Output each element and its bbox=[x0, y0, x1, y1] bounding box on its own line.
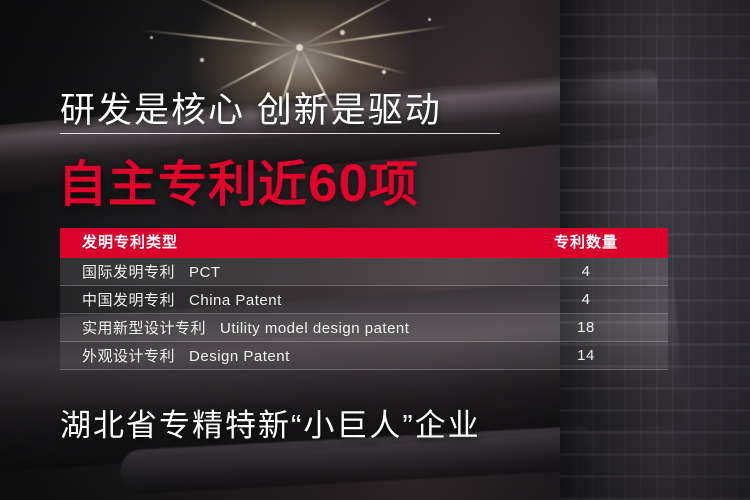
patent-type-cn: 外观设计专利 bbox=[82, 348, 175, 365]
patent-type-en: PCT bbox=[189, 264, 221, 281]
headline: 研发是核心 创新是驱动 bbox=[60, 82, 442, 133]
patent-table-head: 发明专利类型 专利数量 bbox=[60, 228, 668, 258]
subheadline-number: 60 bbox=[308, 154, 369, 213]
column-header-count: 专利数量 bbox=[512, 228, 668, 258]
table-row: 国际发明专利PCT 4 bbox=[60, 258, 668, 286]
patent-type-en: Design Patent bbox=[189, 348, 290, 365]
patent-type-en: Utility model design patent bbox=[220, 320, 409, 337]
cell-patent-count: 14 bbox=[512, 342, 668, 370]
cell-patent-count: 18 bbox=[512, 314, 668, 342]
table-row: 中国发明专利China Patent 4 bbox=[60, 286, 668, 314]
cell-patent-type: 外观设计专利Design Patent bbox=[60, 342, 512, 370]
subheadline-suffix: 项 bbox=[369, 158, 419, 212]
table-header-row: 发明专利类型 专利数量 bbox=[60, 228, 668, 258]
cell-patent-count: 4 bbox=[512, 286, 668, 314]
patent-table-body: 国际发明专利PCT 4 中国发明专利China Patent 4 实用新型设计专… bbox=[60, 258, 668, 370]
footer-tagline: 湖北省专精特新“小巨人”企业 bbox=[60, 400, 481, 445]
poster-canvas: 研发是核心 创新是驱动 自主专利近60项 发明专利类型 专利数量 国际发明专利P… bbox=[0, 0, 750, 500]
poster-content: 研发是核心 创新是驱动 自主专利近60项 发明专利类型 专利数量 国际发明专利P… bbox=[0, 0, 750, 500]
column-header-type: 发明专利类型 bbox=[60, 228, 512, 258]
patent-type-cn: 实用新型设计专利 bbox=[82, 320, 206, 337]
subheadline-prefix: 自主专利近 bbox=[58, 158, 308, 212]
headline-divider bbox=[60, 133, 500, 134]
cell-patent-type: 国际发明专利PCT bbox=[60, 258, 512, 286]
table-row: 外观设计专利Design Patent 14 bbox=[60, 342, 668, 370]
cell-patent-count: 4 bbox=[512, 258, 668, 286]
patent-type-en: China Patent bbox=[189, 292, 282, 309]
cell-patent-type: 实用新型设计专利Utility model design patent bbox=[60, 314, 512, 342]
cell-patent-type: 中国发明专利China Patent bbox=[60, 286, 512, 314]
table-row: 实用新型设计专利Utility model design patent 18 bbox=[60, 314, 668, 342]
patent-type-cn: 国际发明专利 bbox=[82, 264, 175, 281]
patent-table: 发明专利类型 专利数量 国际发明专利PCT 4 中国发明专利China Pate… bbox=[60, 228, 668, 370]
subheadline: 自主专利近60项 bbox=[58, 145, 419, 216]
patent-type-cn: 中国发明专利 bbox=[82, 292, 175, 309]
